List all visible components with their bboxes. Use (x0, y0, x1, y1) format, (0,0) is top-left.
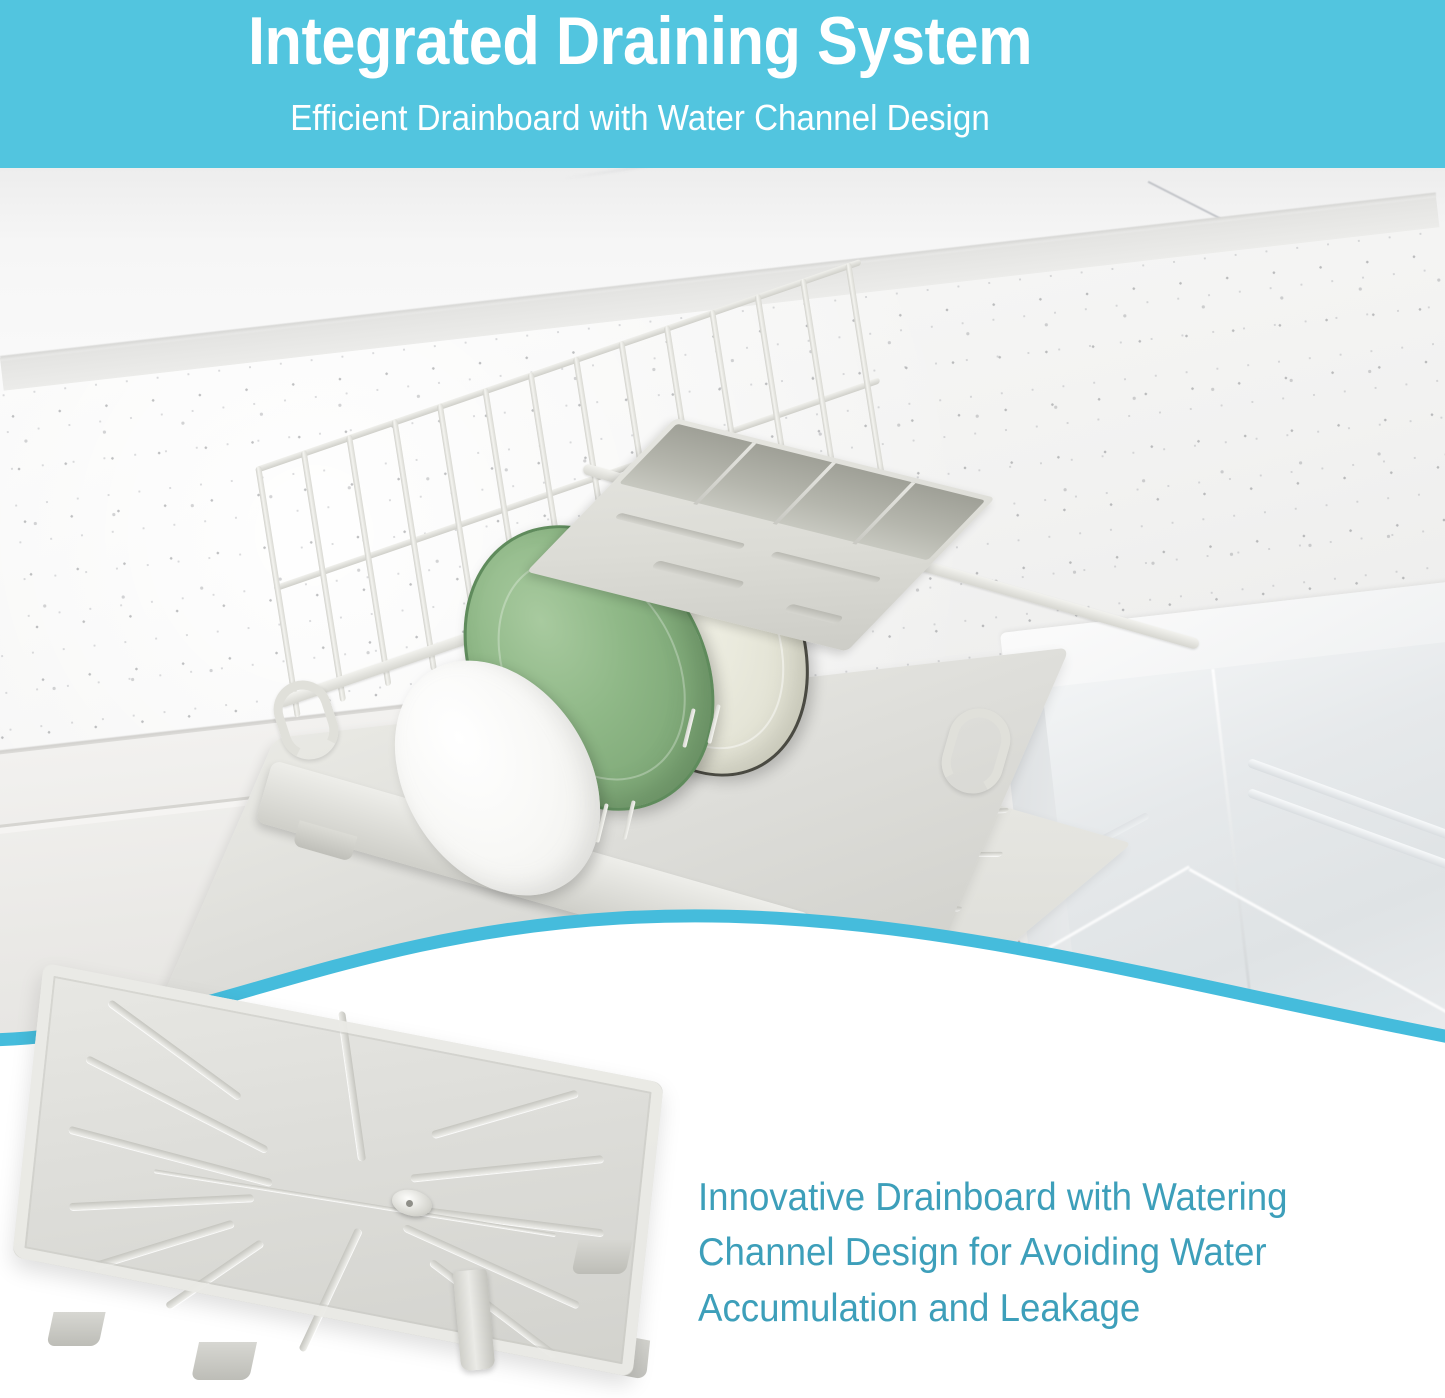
header-banner: Integrated Draining System Efficient Dra… (0, 0, 1445, 168)
feature-section: Innovative Drainboard with Watering Chan… (0, 1050, 1445, 1398)
feature-caption-line-1: Innovative Drainboard with Watering (698, 1170, 1394, 1225)
drainboard-raised-lip (12, 963, 664, 1377)
dish-drying-rack (255, 408, 1115, 1068)
marble-vein (560, 168, 1232, 181)
banner-title: Integrated Draining System (64, 6, 1216, 77)
drainboard-product-image (10, 990, 670, 1398)
drainboard-drain-hole (406, 1200, 413, 1207)
drainboard-foot (46, 1312, 105, 1346)
drainboard-foot (571, 1240, 632, 1274)
product-marketing-image: Integrated Draining System Efficient Dra… (0, 0, 1445, 1398)
banner-subtitle: Efficient Drainboard with Water Channel … (51, 98, 1229, 138)
feature-caption-line-3: Accumulation and Leakage (698, 1281, 1394, 1336)
feature-caption-line-2: Channel Design for Avoiding Water (698, 1225, 1394, 1280)
drainboard-foot (191, 1342, 257, 1380)
feature-caption: Innovative Drainboard with Watering Chan… (698, 1170, 1394, 1336)
hero-photo (0, 168, 1445, 1068)
